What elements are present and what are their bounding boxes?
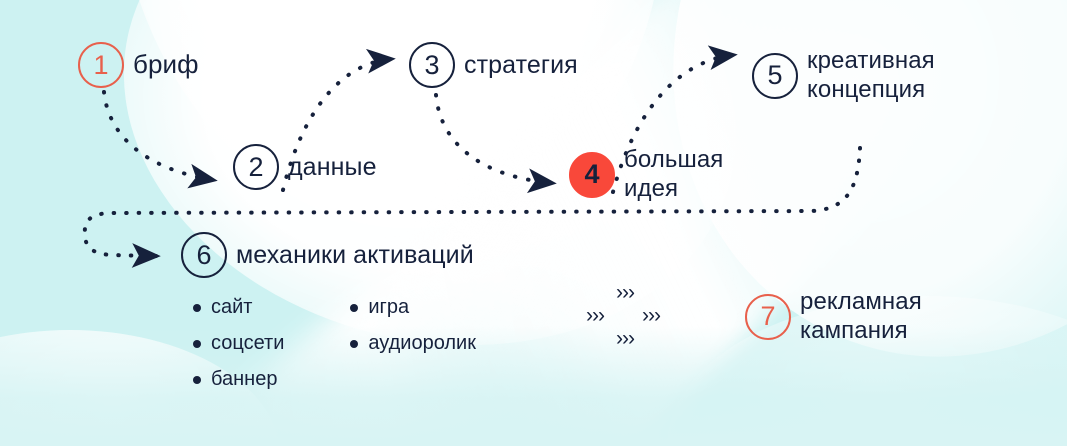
list-item-label: сайт xyxy=(211,296,252,319)
triple-chevron-right-icon-right: ››› xyxy=(642,304,660,328)
arrow-1-to-2 xyxy=(104,92,213,180)
triple-chevron-right-icon-left: ››› xyxy=(586,304,604,328)
list-item-label: баннер xyxy=(211,368,277,391)
mechanics-column-left: сайт соцсети баннер xyxy=(193,296,284,391)
list-item: соцсети xyxy=(193,332,284,355)
step-number-badge-4: 4 xyxy=(569,152,615,198)
step-label-2: данные xyxy=(288,153,377,181)
list-item-label: аудиоролик xyxy=(368,332,476,355)
step-number-badge-3: 3 xyxy=(409,42,455,88)
bullet-dot-icon xyxy=(193,340,201,348)
step-node-5[interactable]: 5 креативная концепция xyxy=(752,47,935,105)
step-node-7[interactable]: 7 рекламная кампания xyxy=(745,288,922,346)
step-node-2[interactable]: 2 данные xyxy=(233,144,377,190)
chevron-cluster: ››› ››› ››› ››› xyxy=(588,283,698,353)
step-node-1[interactable]: 1 бриф xyxy=(78,42,199,88)
mechanics-list: сайт соцсети баннер игра аудиоролик xyxy=(193,296,476,391)
step-label-3: стратегия xyxy=(464,51,578,79)
list-item-label: соцсети xyxy=(211,332,284,355)
list-item: сайт xyxy=(193,296,284,319)
step-label-4: большая идея xyxy=(624,146,723,204)
bullet-dot-icon xyxy=(350,340,358,348)
list-item: аудиоролик xyxy=(350,332,476,355)
list-item: баннер xyxy=(193,368,284,391)
bullet-dot-icon xyxy=(193,304,201,312)
step-number-badge-1: 1 xyxy=(78,42,124,88)
step-node-4[interactable]: 4 большая идея xyxy=(569,146,723,204)
triple-chevron-right-icon-bottom: ››› xyxy=(616,327,634,351)
step-node-6[interactable]: 6 механики активаций xyxy=(181,232,474,278)
step-label-5: креативная концепция xyxy=(807,47,935,105)
step-label-1: бриф xyxy=(133,50,199,79)
step-number-badge-2: 2 xyxy=(233,144,279,190)
diagram-canvas: 1 бриф 2 данные 3 стратегия 4 большая ид… xyxy=(0,0,1067,446)
step-number-badge-7: 7 xyxy=(745,294,791,340)
step-label-6: механики активаций xyxy=(236,241,474,269)
triple-chevron-right-icon-top: ››› xyxy=(616,281,634,305)
step-number-badge-6: 6 xyxy=(181,232,227,278)
mechanics-column-right: игра аудиоролик xyxy=(350,296,476,391)
step-node-3[interactable]: 3 стратегия xyxy=(409,42,578,88)
list-item-label: игра xyxy=(368,296,409,319)
bullet-dot-icon xyxy=(193,376,201,384)
step-label-7: рекламная кампания xyxy=(800,288,922,346)
bullet-dot-icon xyxy=(350,304,358,312)
arrow-3-to-4 xyxy=(436,95,552,183)
step-number-badge-5: 5 xyxy=(752,53,798,99)
list-item: игра xyxy=(350,296,476,319)
